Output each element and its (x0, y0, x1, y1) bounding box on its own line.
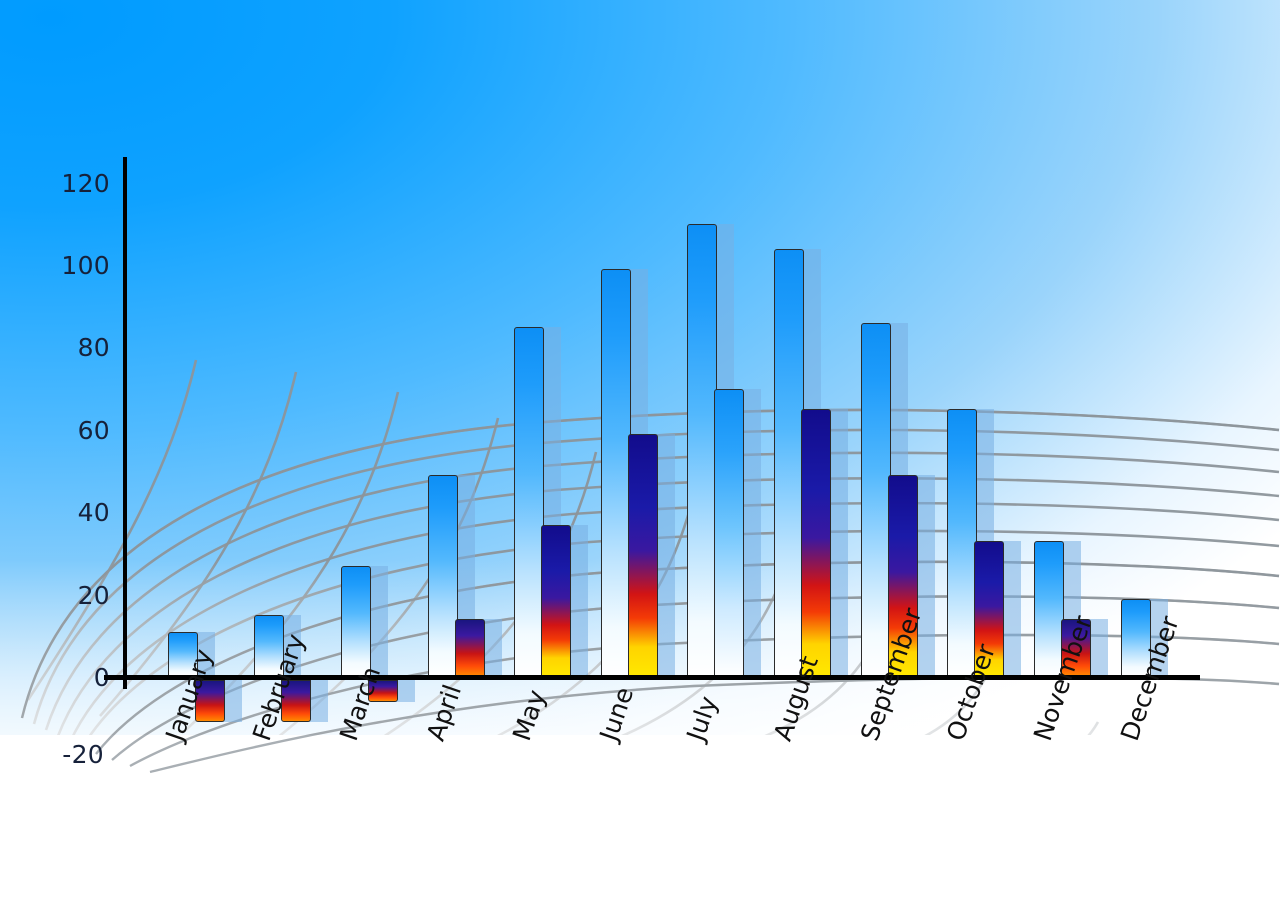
bar-may-series2[interactable] (541, 525, 571, 677)
bar-october-series1[interactable] (947, 409, 977, 677)
bar-august-series1[interactable] (774, 249, 804, 677)
bar-september-series1[interactable] (861, 323, 891, 677)
x-label-april: April (421, 681, 467, 744)
x-label-june: June (594, 684, 639, 745)
bar-june-series1[interactable] (601, 269, 631, 677)
bar-august-series2[interactable] (801, 409, 831, 677)
plot-area: 120 100 80 60 40 20 0 -20 (0, 0, 1280, 905)
y-tick-120: 120 (50, 169, 110, 198)
bar-july-series1[interactable] (687, 224, 717, 677)
y-tick-0: 0 (50, 663, 110, 692)
x-label-july: July (681, 692, 723, 744)
bar-march-series1[interactable] (341, 566, 371, 677)
y-tick-80: 80 (50, 333, 110, 362)
bar-april-series2[interactable] (455, 619, 485, 677)
bar-july-series2[interactable] (714, 389, 744, 677)
bar-june-series2[interactable] (628, 434, 658, 677)
y-tick-neg20: -20 (44, 740, 104, 769)
bar-may-series1[interactable] (514, 327, 544, 677)
bar-april-series1[interactable] (428, 475, 458, 677)
y-tick-100: 100 (50, 251, 110, 280)
x-label-may: May (507, 686, 551, 744)
chart-canvas: 120 100 80 60 40 20 0 -20 (0, 0, 1280, 905)
y-tick-60: 60 (50, 416, 110, 445)
y-axis-line (123, 157, 127, 689)
y-tick-40: 40 (50, 498, 110, 527)
y-tick-20: 20 (50, 581, 110, 610)
